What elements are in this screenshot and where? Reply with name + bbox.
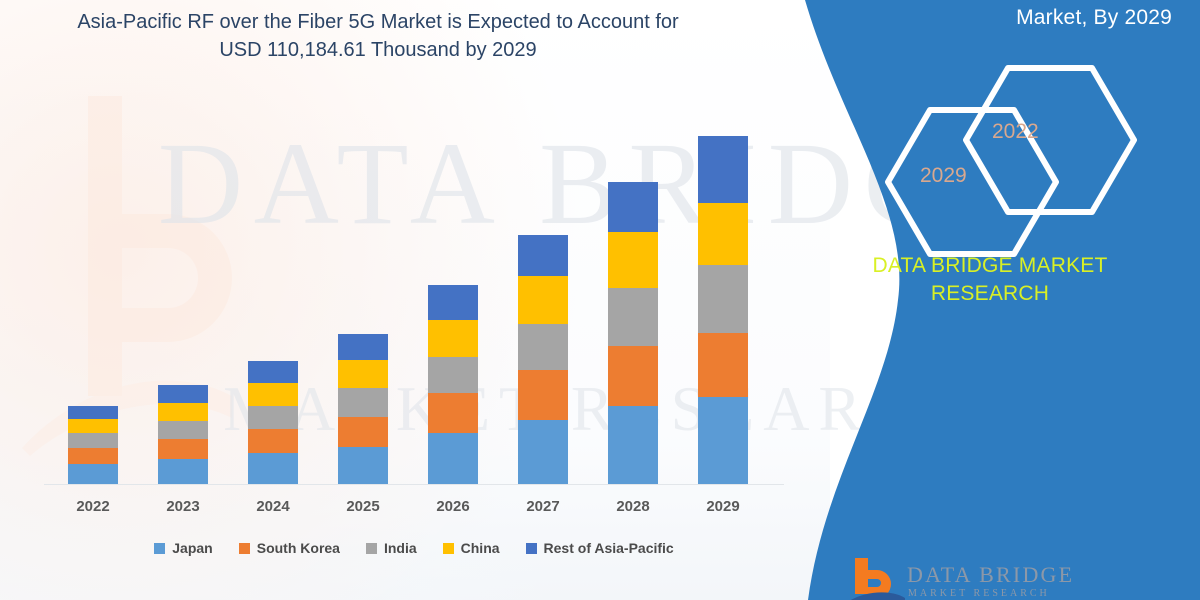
bar-2029[interactable] <box>698 136 748 484</box>
segment-india-2027[interactable] <box>518 324 568 370</box>
segment-japan-2029[interactable] <box>698 397 748 484</box>
segment-china-2026[interactable] <box>428 320 478 357</box>
brand-line-1: DATA BRIDGE MARKET <box>780 252 1200 280</box>
segment-china-2024[interactable] <box>248 383 298 406</box>
legend-label: South Korea <box>257 540 340 556</box>
brand-line-2: RESEARCH <box>780 280 1200 308</box>
segment-japan-2025[interactable] <box>338 447 388 484</box>
x-axis-label-2026: 2026 <box>408 498 498 515</box>
segment-south-korea-2024[interactable] <box>248 429 298 453</box>
segment-south-korea-2025[interactable] <box>338 417 388 447</box>
segment-india-2022[interactable] <box>68 433 118 448</box>
legend-swatch-icon <box>526 543 537 554</box>
x-axis-label-2029: 2029 <box>678 498 768 515</box>
segment-rest-of-asia-pacific-2029[interactable] <box>698 136 748 203</box>
footer-logo-name: DATA BRIDGE <box>907 562 1074 588</box>
segment-south-korea-2022[interactable] <box>68 448 118 464</box>
segment-japan-2024[interactable] <box>248 453 298 484</box>
segment-india-2025[interactable] <box>338 388 388 417</box>
bar-2026[interactable] <box>428 285 478 484</box>
x-axis-label-2028: 2028 <box>588 498 678 515</box>
segment-japan-2023[interactable] <box>158 459 208 484</box>
segment-india-2024[interactable] <box>248 406 298 429</box>
bar-2023[interactable] <box>158 385 208 484</box>
bar-2028[interactable] <box>608 182 658 484</box>
segment-china-2028[interactable] <box>608 232 658 288</box>
segment-china-2027[interactable] <box>518 276 568 324</box>
legend-swatch-icon <box>239 543 250 554</box>
legend-swatch-icon <box>366 543 377 554</box>
segment-rest-of-asia-pacific-2022[interactable] <box>68 406 118 419</box>
legend-swatch-icon <box>443 543 454 554</box>
segment-south-korea-2026[interactable] <box>428 393 478 433</box>
legend-label: Rest of Asia-Pacific <box>544 540 674 556</box>
segment-china-2022[interactable] <box>68 419 118 433</box>
legend-label: China <box>461 540 500 556</box>
segment-china-2025[interactable] <box>338 360 388 388</box>
stacked-bar-chart: 20222023202420252026202720282029 JapanSo… <box>0 0 830 600</box>
legend-label: India <box>384 540 417 556</box>
footer-logo-tagline: MARKET RESEARCH <box>908 588 1050 599</box>
legend-item-china[interactable]: China <box>443 540 500 556</box>
bar-2022[interactable] <box>68 406 118 484</box>
segment-japan-2026[interactable] <box>428 433 478 484</box>
legend-label: Japan <box>172 540 212 556</box>
chart-baseline <box>44 484 784 485</box>
segment-rest-of-asia-pacific-2025[interactable] <box>338 334 388 360</box>
segment-japan-2027[interactable] <box>518 420 568 484</box>
segment-south-korea-2029[interactable] <box>698 333 748 397</box>
legend-item-india[interactable]: India <box>366 540 417 556</box>
legend-item-south-korea[interactable]: South Korea <box>239 540 340 556</box>
segment-rest-of-asia-pacific-2026[interactable] <box>428 285 478 320</box>
segment-rest-of-asia-pacific-2024[interactable] <box>248 361 298 383</box>
segment-india-2029[interactable] <box>698 265 748 333</box>
legend-swatch-icon <box>154 543 165 554</box>
segment-china-2029[interactable] <box>698 203 748 265</box>
x-axis-label-2023: 2023 <box>138 498 228 515</box>
bar-2025[interactable] <box>338 334 388 484</box>
chart-legend: JapanSouth KoreaIndiaChinaRest of Asia-P… <box>44 540 784 556</box>
brand-name: DATA BRIDGE MARKET RESEARCH <box>780 252 1200 307</box>
segment-china-2023[interactable] <box>158 403 208 421</box>
footer-logo: DATA BRIDGE MARKET RESEARCH <box>845 558 1185 600</box>
segment-japan-2022[interactable] <box>68 464 118 484</box>
bridge-logo-icon <box>845 558 905 600</box>
segment-japan-2028[interactable] <box>608 406 658 484</box>
legend-item-rest-of-asia-pacific[interactable]: Rest of Asia-Pacific <box>526 540 674 556</box>
x-axis-label-2022: 2022 <box>48 498 138 515</box>
segment-rest-of-asia-pacific-2028[interactable] <box>608 182 658 232</box>
segment-india-2028[interactable] <box>608 288 658 346</box>
segment-india-2023[interactable] <box>158 421 208 439</box>
panel-header: Market, By 2029 <box>1016 6 1172 30</box>
segment-rest-of-asia-pacific-2023[interactable] <box>158 385 208 403</box>
infographic-canvas: DATA BRIDGE MARKET RESEARCH Market, By 2… <box>0 0 1200 600</box>
x-axis-label-2027: 2027 <box>498 498 588 515</box>
segment-india-2026[interactable] <box>428 357 478 393</box>
brand-panel: Market, By 2029 2029 2022 DATA BRIDGE MA… <box>780 0 1200 600</box>
segment-south-korea-2028[interactable] <box>608 346 658 406</box>
bar-2024[interactable] <box>248 361 298 484</box>
bar-2027[interactable] <box>518 235 568 484</box>
segment-south-korea-2023[interactable] <box>158 439 208 459</box>
x-axis-label-2025: 2025 <box>318 498 408 515</box>
legend-item-japan[interactable]: Japan <box>154 540 212 556</box>
x-axis-label-2024: 2024 <box>228 498 318 515</box>
segment-south-korea-2027[interactable] <box>518 370 568 420</box>
segment-rest-of-asia-pacific-2027[interactable] <box>518 235 568 276</box>
